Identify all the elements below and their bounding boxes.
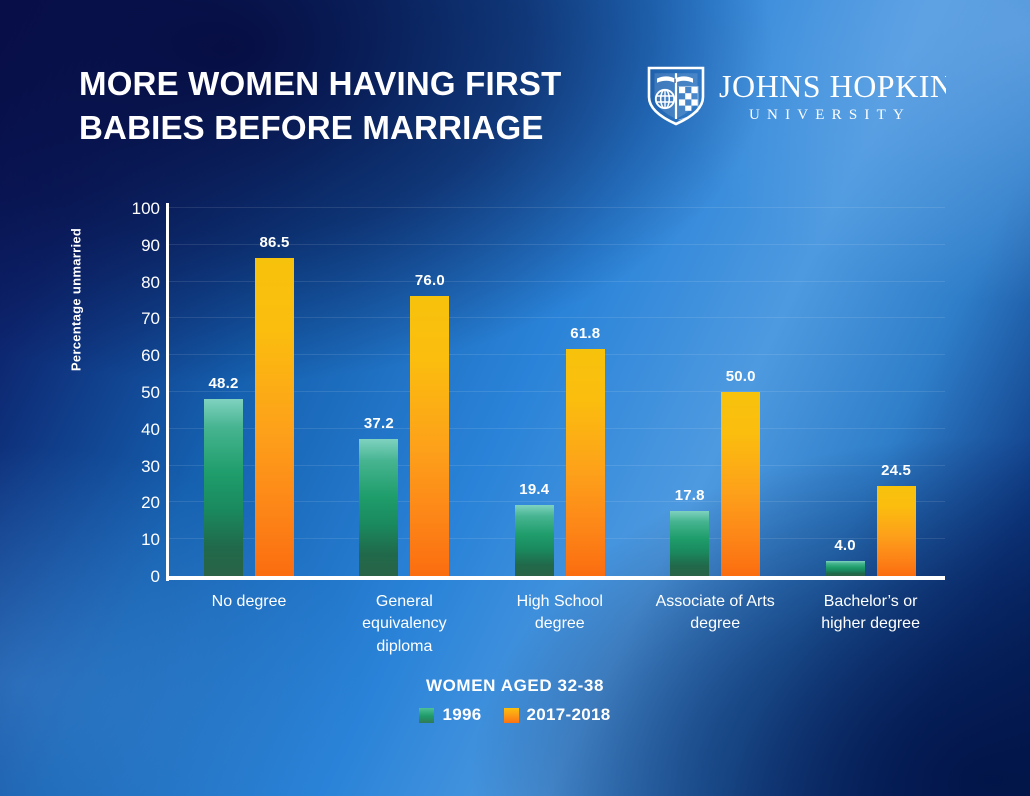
y-axis-tick-label: 60 xyxy=(88,347,160,364)
y-axis-tick-label: 90 xyxy=(88,237,160,254)
category-label-line: degree xyxy=(625,613,805,635)
y-axis-ticks: 1009080706050403020100 xyxy=(88,198,160,588)
bar-2017-2018[interactable]: 76.0 xyxy=(410,296,449,576)
bar-group: 19.461.8 xyxy=(515,208,605,576)
title-line-1: MORE WOMEN HAVING FIRST xyxy=(79,62,639,106)
chart-canvas: MORE WOMEN HAVING FIRST BABIES BEFORE MA… xyxy=(0,0,1030,796)
bar-1996[interactable]: 48.2 xyxy=(204,399,243,576)
bar-value-label: 86.5 xyxy=(260,234,290,251)
logo-wordmark: JOHNS HOPKINS xyxy=(719,68,946,104)
bar-group: 48.286.5 xyxy=(204,208,294,576)
category-label-line: higher degree xyxy=(781,613,961,635)
bar-1996[interactable]: 37.2 xyxy=(359,439,398,576)
category-label-line: degree xyxy=(470,613,650,635)
legend-label: 2017-2018 xyxy=(527,705,611,725)
y-axis-tick-label: 50 xyxy=(88,384,160,401)
page-title: MORE WOMEN HAVING FIRST BABIES BEFORE MA… xyxy=(79,62,639,150)
bar-value-label: 48.2 xyxy=(209,375,239,392)
bar-value-label: 19.4 xyxy=(519,481,549,498)
bar-1996[interactable]: 19.4 xyxy=(515,505,554,576)
bar-value-label: 61.8 xyxy=(570,325,600,342)
bar-2017-2018[interactable]: 61.8 xyxy=(566,349,605,576)
x-axis-category-label: High Schooldegree xyxy=(470,591,650,636)
bar-value-label: 37.2 xyxy=(364,415,394,432)
x-axis-category-labels: No degreeGeneralequivalencydiplomaHigh S… xyxy=(168,591,945,677)
y-axis-tick-label: 70 xyxy=(88,310,160,327)
bar-groups: 48.286.537.276.019.461.817.850.04.024.5 xyxy=(168,208,945,576)
title-line-2: BABIES BEFORE MARRIAGE xyxy=(79,106,639,150)
bar-group: 17.850.0 xyxy=(670,208,760,576)
category-label-line: No degree xyxy=(159,591,339,613)
bar-2017-2018[interactable]: 86.5 xyxy=(255,258,294,576)
x-axis-category-label: Generalequivalencydiploma xyxy=(314,591,494,658)
y-axis-tick-label: 0 xyxy=(88,568,160,585)
category-label-line: diploma xyxy=(314,636,494,658)
y-axis-tick-label: 10 xyxy=(88,531,160,548)
bar-value-label: 24.5 xyxy=(881,462,911,479)
category-label-line: High School xyxy=(470,591,650,613)
y-axis-tick-label: 30 xyxy=(88,458,160,475)
category-label-line: Bachelor’s or xyxy=(781,591,961,613)
y-axis-tick-label: 80 xyxy=(88,274,160,291)
bar-value-label: 76.0 xyxy=(415,272,445,289)
bar-1996[interactable]: 4.0 xyxy=(826,561,865,576)
legend-label: 1996 xyxy=(442,705,481,725)
bar-1996[interactable]: 17.8 xyxy=(670,511,709,577)
x-axis-category-label: No degree xyxy=(159,591,339,613)
bar-group: 37.276.0 xyxy=(359,208,449,576)
category-label-line: Associate of Arts xyxy=(625,591,805,613)
bar-group: 4.024.5 xyxy=(826,208,916,576)
bar-2017-2018[interactable]: 24.5 xyxy=(877,486,916,576)
chart-header: MORE WOMEN HAVING FIRST BABIES BEFORE MA… xyxy=(0,0,1030,180)
category-label-line: General xyxy=(314,591,494,613)
y-axis-tick-label: 100 xyxy=(88,200,160,217)
x-axis-category-label: Associate of Artsdegree xyxy=(625,591,805,636)
y-axis-label: Percentage unmarried xyxy=(69,180,84,420)
legend-swatch xyxy=(419,708,434,723)
legend-title: WOMEN AGED 32-38 xyxy=(0,676,1030,696)
x-axis-line xyxy=(166,576,945,580)
x-axis-category-label: Bachelor’s orhigher degree xyxy=(781,591,961,636)
bar-2017-2018[interactable]: 50.0 xyxy=(721,392,760,576)
category-label-line: equivalency xyxy=(314,613,494,635)
legend-swatch xyxy=(504,708,519,723)
chart-legend: WOMEN AGED 32-38 19962017-2018 xyxy=(0,676,1030,725)
bar-value-label: 50.0 xyxy=(726,368,756,385)
bar-value-label: 17.8 xyxy=(675,487,705,504)
bar-value-label: 4.0 xyxy=(834,537,855,554)
y-axis-tick-label: 40 xyxy=(88,421,160,438)
legend-item-1996[interactable]: 1996 xyxy=(419,705,481,725)
johns-hopkins-university-logo: JOHNS HOPKINS UNIVERSITY xyxy=(641,63,946,129)
y-axis-tick-label: 20 xyxy=(88,494,160,511)
legend-items: 19962017-2018 xyxy=(0,705,1030,725)
legend-item-2017-2018[interactable]: 2017-2018 xyxy=(504,705,611,725)
logo-subwordmark: UNIVERSITY xyxy=(749,107,911,123)
